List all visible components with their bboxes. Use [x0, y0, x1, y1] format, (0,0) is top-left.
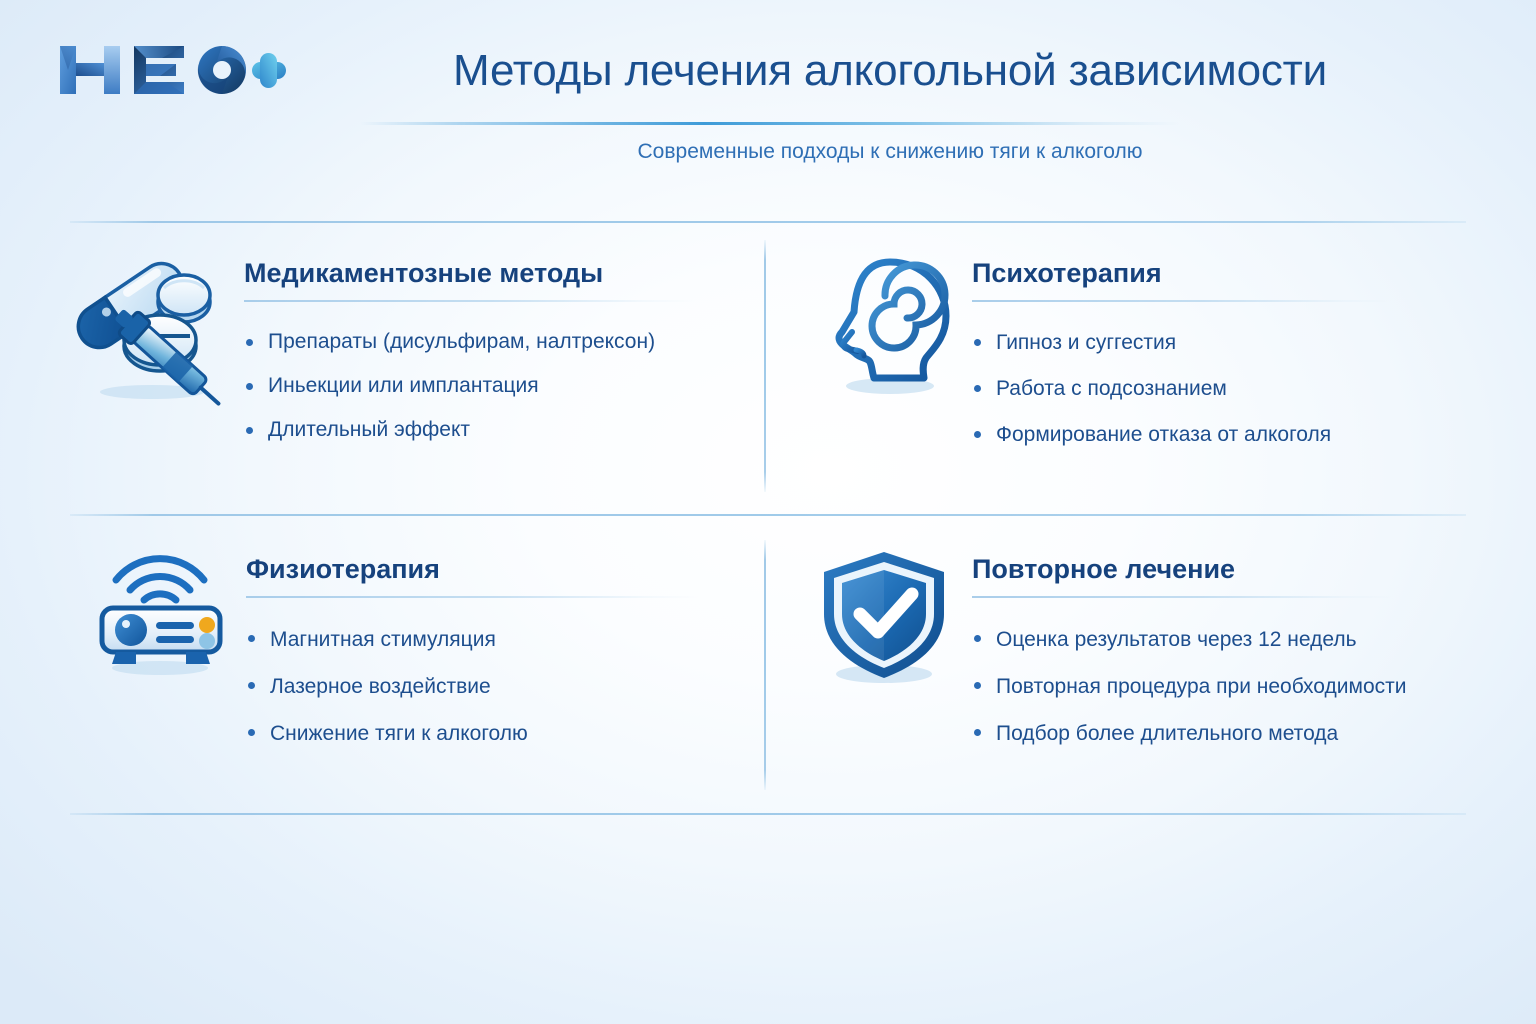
- card-title-underline: [972, 596, 1392, 598]
- list-item: Гипноз и суггестия: [972, 320, 1462, 366]
- pills-syringe-icon: [76, 246, 228, 406]
- list-item: Повторная процедура при необходимости: [972, 663, 1462, 710]
- card-title: Физиотерапия: [246, 552, 746, 586]
- head-spiral-icon: [812, 246, 964, 406]
- card-body: Психотерапия Гипноз и суггестия Работа с…: [972, 246, 1462, 458]
- divider-bottom: [70, 813, 1466, 815]
- divider-top: [70, 221, 1466, 223]
- brand-logo: [56, 36, 288, 102]
- bullet-list: Гипноз и суггестия Работа с подсознанием…: [972, 320, 1462, 458]
- card-medikamentoznye: Медикаментозные методы Препараты (дисуль…: [76, 246, 746, 452]
- list-item: Препараты (дисульфирам, налтрексон): [244, 320, 746, 364]
- list-item: Снижение тяги к алкоголю: [246, 710, 746, 757]
- card-title-underline: [972, 300, 1392, 302]
- page-subtitle: Современные подходы к снижению тяги к ал…: [300, 137, 1480, 167]
- therapy-device-icon: [86, 542, 236, 682]
- card-title-underline: [244, 300, 696, 302]
- shield-check-icon: [812, 542, 962, 692]
- bullet-list: Магнитная стимуляция Лазерное воздействи…: [246, 616, 746, 757]
- page-title: Методы лечения алкогольной зависимости: [300, 44, 1480, 98]
- list-item: Магнитная стимуляция: [246, 616, 746, 663]
- list-item: Формирование отказа от алкоголя: [972, 412, 1462, 458]
- header: Методы лечения алкогольной зависимости С…: [0, 0, 1536, 200]
- card-title: Повторное лечение: [972, 552, 1462, 586]
- divider-vertical-row1: [764, 240, 766, 492]
- card-psihoterapiya: Психотерапия Гипноз и суггестия Работа с…: [812, 246, 1462, 458]
- list-item: Длительный эффект: [244, 408, 746, 452]
- card-title: Психотерапия: [972, 256, 1462, 290]
- card-body: Физиотерапия Магнитная стимуляция Лазерн…: [246, 542, 746, 757]
- card-body: Повторное лечение Оценка результатов чер…: [972, 542, 1462, 757]
- divider-middle: [70, 514, 1466, 516]
- card-body: Медикаментозные методы Препараты (дисуль…: [244, 246, 746, 452]
- card-fizioterapiya: Физиотерапия Магнитная стимуляция Лазерн…: [86, 542, 746, 757]
- divider-vertical-row2: [764, 540, 766, 790]
- card-title-underline: [246, 596, 698, 598]
- bullet-list: Оценка результатов через 12 недель Повто…: [972, 616, 1462, 757]
- card-title: Медикаментозные методы: [244, 256, 746, 290]
- title-underline: [360, 122, 1180, 125]
- card-povtornoe-lechenie: Повторное лечение Оценка результатов чер…: [812, 542, 1462, 757]
- list-item: Лазерное воздействие: [246, 663, 746, 710]
- infographic-poster: Методы лечения алкогольной зависимости С…: [0, 0, 1536, 1024]
- bullet-list: Препараты (дисульфирам, налтрексон) Инье…: [244, 320, 746, 452]
- list-item: Работа с подсознанием: [972, 366, 1462, 412]
- brand-logo-icon: [56, 36, 288, 102]
- list-item: Оценка результатов через 12 недель: [972, 616, 1462, 663]
- list-item: Иньекции или имплантация: [244, 364, 746, 408]
- list-item: Подбор более длительного метода: [972, 710, 1462, 757]
